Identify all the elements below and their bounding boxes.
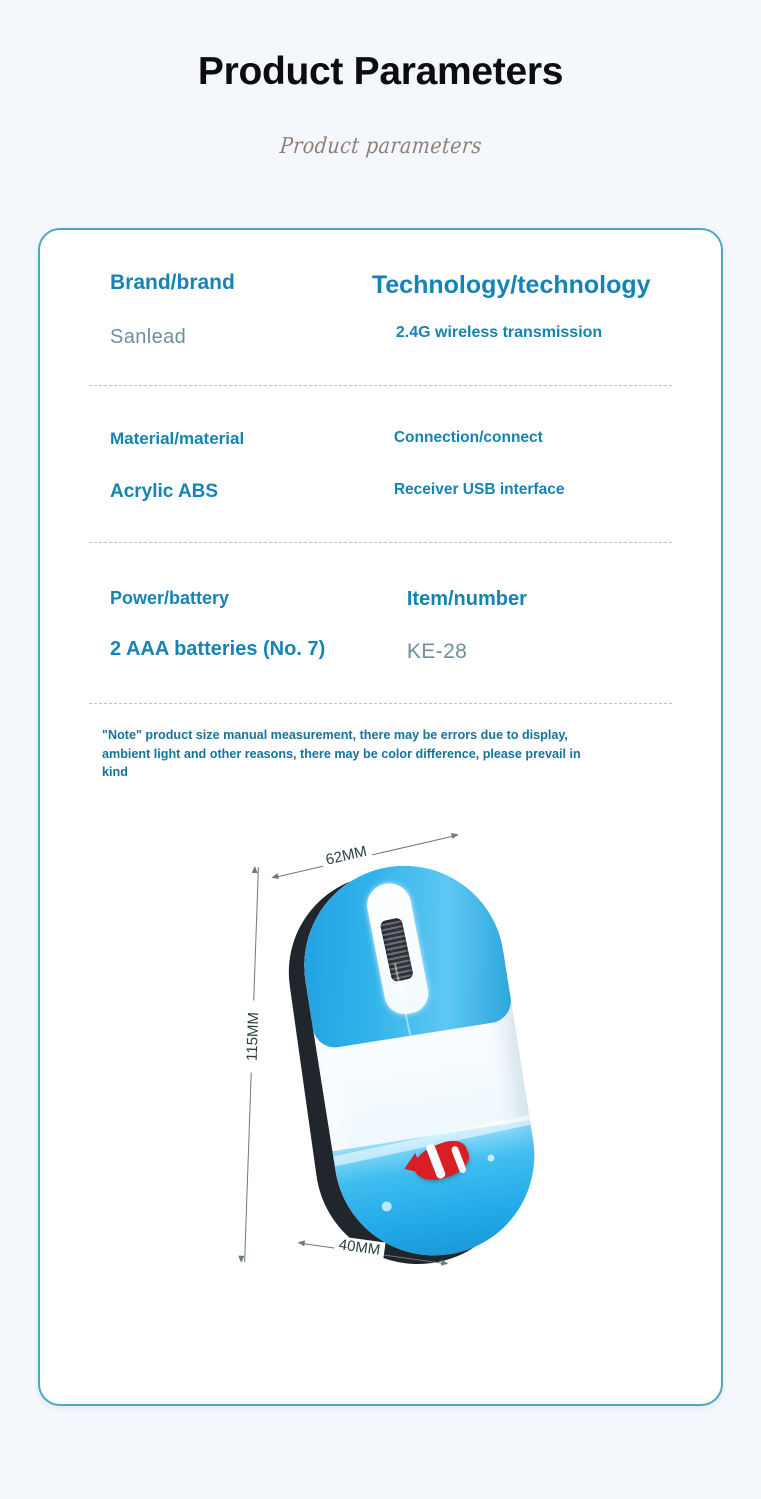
spec-value-connection: Receiver USB interface bbox=[394, 480, 691, 500]
spec-value-material: Acrylic ABS bbox=[110, 480, 362, 505]
spec-row: Power/battery 2 AAA batteries (No. 7) It… bbox=[70, 587, 691, 665]
dimension-label-height: 115MM bbox=[242, 1000, 264, 1073]
divider bbox=[89, 703, 673, 704]
spec-label-power: Power/battery bbox=[110, 587, 362, 610]
spec-label-connection: Connection/connect bbox=[394, 428, 691, 447]
spec-label-item-number: Item/number bbox=[407, 587, 691, 612]
divider bbox=[89, 542, 673, 543]
specifications-card: Brand/brand Sanlead Technology/technolog… bbox=[38, 228, 723, 1406]
arrow-down-icon bbox=[238, 1256, 244, 1263]
note-text: "Note" product size manual measurement, … bbox=[70, 726, 691, 781]
spec-row: Material/material Acrylic ABS Connection… bbox=[70, 428, 691, 504]
spec-label-brand: Brand/brand bbox=[110, 270, 362, 296]
product-figure: 62MM 115MM 40MM bbox=[70, 787, 691, 1307]
spec-cell-brand: Brand/brand Sanlead bbox=[70, 270, 362, 350]
spec-label-material: Material/material bbox=[110, 428, 362, 449]
spec-value-brand: Sanlead bbox=[110, 324, 362, 350]
spec-label-technology: Technology/technology bbox=[372, 270, 691, 301]
spec-value-item-number: KE-28 bbox=[407, 638, 691, 665]
spec-cell-power: Power/battery 2 AAA batteries (No. 7) bbox=[70, 587, 362, 665]
page-header: Product Parameters Product parameters bbox=[0, 0, 761, 157]
product-photo-mouse bbox=[272, 850, 562, 1281]
page-title: Product Parameters bbox=[0, 52, 761, 93]
script-subtitle: Product parameters bbox=[278, 133, 482, 158]
dimension-label-width-top: 62MM bbox=[320, 842, 372, 870]
dimension-height-left: 115MM bbox=[235, 867, 269, 1262]
arrow-up-icon bbox=[251, 866, 257, 873]
spec-cell-material: Material/material Acrylic ABS bbox=[70, 428, 362, 504]
spec-value-technology: 2.4G wireless transmission bbox=[372, 323, 691, 344]
spec-cell-item-number: Item/number KE-28 bbox=[362, 587, 691, 665]
divider bbox=[89, 385, 673, 386]
spec-value-power: 2 AAA batteries (No. 7) bbox=[110, 636, 362, 662]
spec-cell-technology: Technology/technology 2.4G wireless tran… bbox=[362, 270, 691, 350]
spec-cell-connection: Connection/connect Receiver USB interfac… bbox=[362, 428, 691, 504]
spec-row: Brand/brand Sanlead Technology/technolog… bbox=[70, 270, 691, 350]
arrow-right-icon bbox=[451, 831, 459, 838]
arrow-left-icon bbox=[271, 873, 279, 880]
arrow-right-icon bbox=[441, 1259, 449, 1266]
arrow-left-icon bbox=[297, 1239, 305, 1246]
